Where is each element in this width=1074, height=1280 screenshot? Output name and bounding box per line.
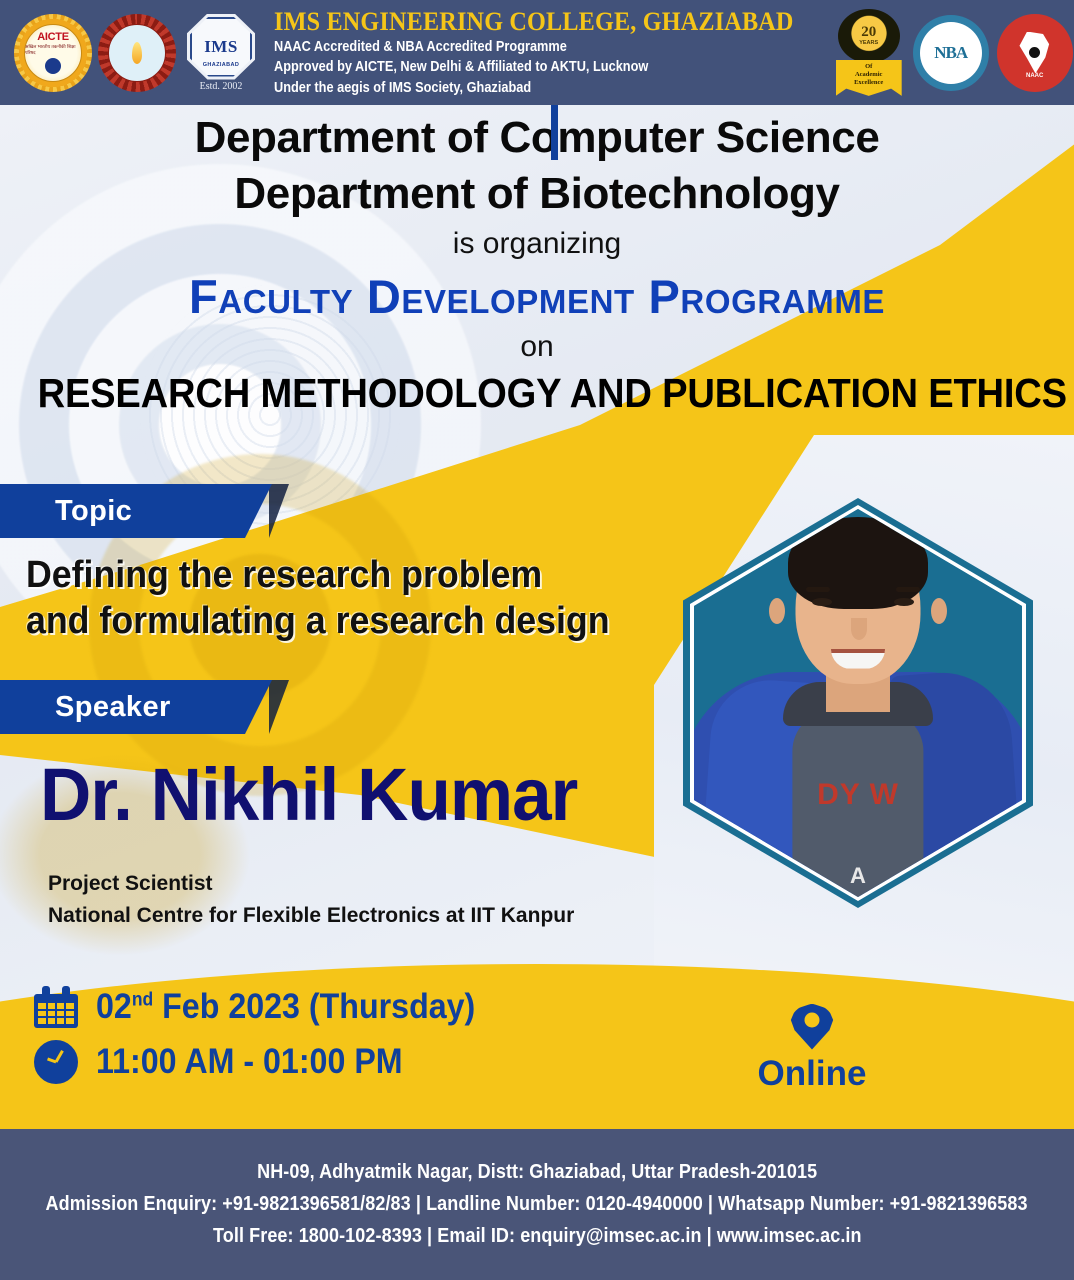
location-pin-icon [789,1004,835,1050]
event-date-suffix: nd [132,989,153,1010]
accreditation-line-1: NAAC Accredited & NBA Accredited Program… [274,37,766,58]
topic-text-line-2: and formulating a research design [26,598,646,644]
department-line-2: Department of Biotechnology [0,166,1074,222]
header-logos-right: 20 YEARS Of Academic Excellence NBA NAAC [833,9,1074,97]
event-mode: Online [758,1054,867,1094]
nba-logo: NBA [913,15,989,91]
event-title: RESEARCH METHODOLOGY AND PUBLICATION ETH… [38,370,1037,417]
accreditation-line-3: Under the aegis of IMS Society, Ghaziaba… [274,78,766,99]
speaker-ribbon: Speaker [0,680,245,734]
speaker-designation: Project Scientist [48,868,574,900]
title-block: Department of Computer Science Departmen… [0,110,1074,417]
ims-logo-city: GHAZIABAD [187,62,255,68]
clock-icon [34,1040,78,1084]
badge-line-1: Of [836,63,902,71]
naac-center-icon [1027,45,1042,60]
event-date-day: 02 [96,987,132,1026]
topic-ribbon-label: Topic [55,495,132,528]
aicte-emblem-icon [45,58,61,74]
details-right: Online [550,964,1074,1129]
fdp-poster: AICTE अखिल भारतीय तकनीकी शिक्षा परिषद IM… [0,0,1074,1280]
footer-contacts: Admission Enquiry: +91-9821396581/82/83 … [46,1193,1028,1216]
nba-logo-label: NBA [934,43,967,63]
badge-years-label: YEARS [859,40,878,46]
topic-text-line-1: Defining the research problem [26,552,646,598]
event-type-heading: Faculty Development Programme [0,271,1074,323]
header-logos-left: AICTE अखिल भारतीय तकनीकी शिक्षा परिषद IM… [0,10,260,96]
ims-logo-estd: Estd. 2002 [200,81,243,92]
speaker-affiliation: Project Scientist National Centre for Fl… [48,868,574,931]
details-band: 02nd Feb 2023 (Thursday) 11:00 AM - 01:0… [0,964,1074,1129]
footer-address: NH-09, Adhyatmik Nagar, Distt: Ghaziabad… [257,1161,817,1184]
naac-logo: NAAC [997,14,1073,92]
speaker-photo-frame: DY W A [683,498,1033,908]
aicte-logo-sublabel: अखिल भारतीय तकनीकी शिक्षा परिषद [25,44,81,56]
badge-line-3: Excellence [836,79,902,87]
topic-text: Defining the research problem and formul… [26,552,646,645]
topic-ribbon: Topic [0,484,245,538]
department-line-1: Department of Computer Science [0,110,1074,166]
event-date: 02nd Feb 2023 (Thursday) [96,987,475,1027]
portrait-shirt-text-2: A [850,863,866,889]
calendar-icon [34,986,78,1028]
aktu-logo [98,14,176,92]
speaker-institution: National Centre for Flexible Electronics… [48,900,574,932]
20-years-badge: 20 YEARS Of Academic Excellence [833,9,905,97]
speaker-ribbon-label: Speaker [55,691,171,724]
aicte-logo: AICTE अखिल भारतीय तकनीकी शिक्षा परिषद [14,14,92,92]
details-left: 02nd Feb 2023 (Thursday) 11:00 AM - 01:0… [0,964,550,1129]
accreditation-line-2: Approved by AICTE, New Delhi & Affiliate… [274,57,766,78]
on-label: on [0,330,1074,364]
aktu-lamp-icon [132,42,142,64]
contact-footer: NH-09, Adhyatmik Nagar, Distt: Ghaziabad… [0,1129,1074,1280]
college-name: IMS ENGINEERING COLLEGE, GHAZIABAD [274,7,794,37]
badge-line-2: Academic [836,71,902,79]
event-time: 11:00 AM - 01:00 PM [96,1042,403,1082]
aicte-logo-label: AICTE [37,31,69,43]
date-row: 02nd Feb 2023 (Thursday) [34,986,550,1028]
time-row: 11:00 AM - 01:00 PM [34,1040,550,1084]
ims-logo-label: IMS [204,37,238,57]
ims-logo: IMS GHAZIABAD Estd. 2002 [182,10,260,96]
institution-header: AICTE अखिल भारतीय तकनीकी शिक्षा परिषद IM… [0,0,1074,105]
footer-tollfree: Toll Free: 1800-102-8393 | Email ID: enq… [213,1225,862,1248]
event-date-rest: Feb 2023 (Thursday) [153,987,475,1026]
organizing-label: is organizing [0,227,1074,261]
speaker-name: Dr. Nikhil Kumar [40,758,577,832]
badge-number: 20 [861,25,876,40]
portrait-shirt-text: DY W [817,778,899,812]
header-text-block: IMS ENGINEERING COLLEGE, GHAZIABAD NAAC … [260,7,833,99]
naac-logo-label: NAAC [1026,73,1043,79]
